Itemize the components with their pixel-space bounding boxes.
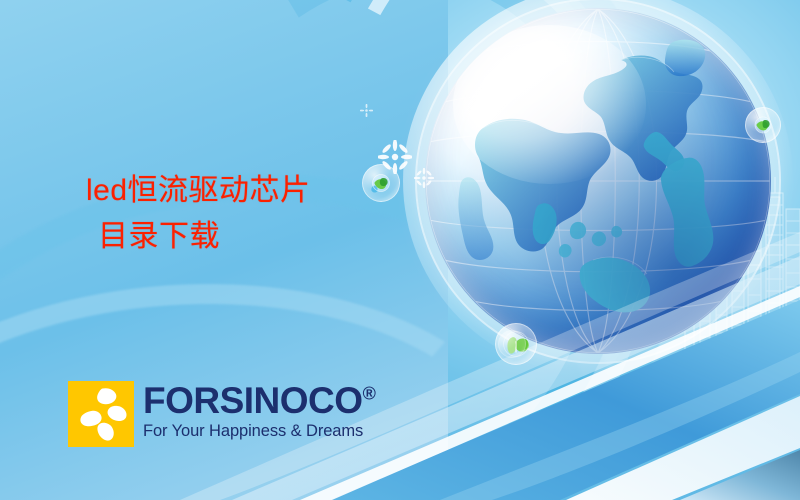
brand-wordmark: FORSINOCO® bbox=[143, 383, 376, 418]
brand-tagline: For Your Happiness & Dreams bbox=[143, 422, 376, 441]
four-petal-flower-icon bbox=[68, 381, 134, 447]
earth-globe-icon bbox=[425, 8, 771, 354]
registered-trademark-icon: ® bbox=[363, 384, 376, 404]
page-title: led恒流驱动芯片 目录下载 bbox=[86, 168, 416, 259]
globe-rim bbox=[415, 0, 781, 364]
brand-name: FORSINOCO bbox=[143, 380, 363, 421]
bubble-icon bbox=[498, 330, 526, 358]
bubble-icon bbox=[745, 107, 781, 143]
brand-logo: FORSINOCO® For Your Happiness & Dreams bbox=[68, 381, 376, 447]
banner-canvas: led恒流驱动芯片 目录下载 FORSINOCO® For Your Happi… bbox=[0, 0, 800, 500]
headline-line-1: led恒流驱动芯片 bbox=[86, 174, 311, 207]
headline-line-2: 目录下载 bbox=[86, 214, 416, 260]
mini-globe-icon bbox=[746, 108, 780, 142]
